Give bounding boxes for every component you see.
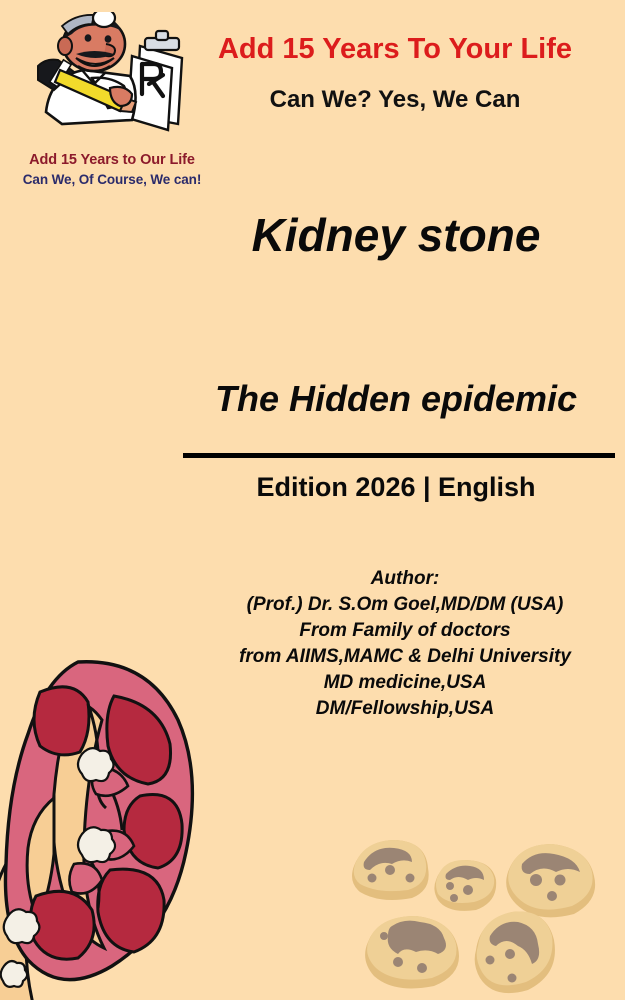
author-credential-line: From Family of doctors — [180, 618, 625, 644]
author-credential-line: MD medicine,USA — [180, 670, 625, 696]
stone-shape — [434, 860, 496, 911]
logo-tagline-primary: Add 15 Years to Our Life — [14, 152, 210, 168]
book-subtitle: The Hidden epidemic — [168, 378, 624, 420]
book-title: Kidney stone — [170, 208, 622, 262]
stone-shape — [365, 916, 459, 988]
author-credential-line: DM/Fellowship,USA — [180, 696, 625, 722]
cover-headline: Add 15 Years To Your Life — [170, 33, 620, 66]
title-divider — [183, 453, 615, 458]
kidney-cross-section-icon — [0, 648, 220, 1000]
author-block: Author: (Prof.) Dr. S.Om Goel,MD/DM (USA… — [180, 566, 625, 722]
stone-shape — [352, 840, 429, 900]
author-credential-line: from AIIMS,MAMC & Delhi University — [180, 644, 625, 670]
doctor-writing-prescription-icon — [32, 12, 192, 144]
kidney-stones-icon — [340, 832, 625, 1000]
author-credential-line: (Prof.) Dr. S.Om Goel,MD/DM (USA) — [180, 592, 625, 618]
author-label: Author: — [180, 566, 625, 592]
stone-shape — [475, 912, 555, 994]
cover-subheadline: Can We? Yes, We Can — [170, 86, 620, 114]
logo-tagline-secondary: Can We, Of Course, We can! — [14, 172, 210, 187]
stone-shape — [506, 844, 595, 917]
edition-label: Edition 2026 | English — [170, 472, 622, 503]
book-cover: Add 15 Years to Our Life Can We, Of Cour… — [0, 0, 625, 1000]
